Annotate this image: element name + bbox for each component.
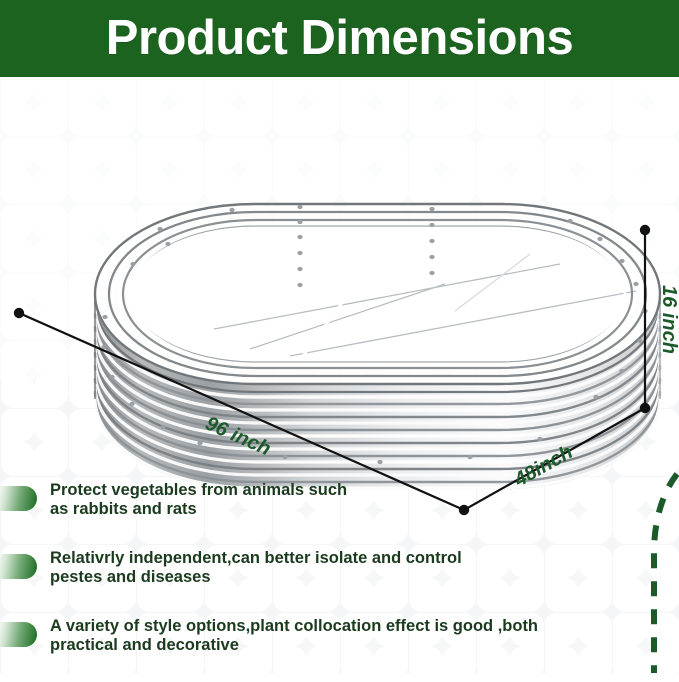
feature-text: Relativrly independent,can better isolat… [50,546,462,587]
feature-text: Protect vegetables from animals such as … [50,478,347,519]
header-banner: Product Dimensions [0,0,679,79]
feature-item-style: A variety of style options,plant colloca… [0,614,640,682]
feature-item-protect: Protect vegetables from animals such as … [0,478,640,546]
bed-geometry [95,204,660,489]
bullet-pill-icon [0,554,37,579]
feature-text: A variety of style options,plant colloca… [50,614,538,655]
feature-list: Protect vegetables from animals such as … [0,478,640,682]
bed-top-rim [95,204,660,384]
product-illustration-raised-garden-bed [0,79,679,539]
feature-item-independent: Relativrly independent,can better isolat… [0,546,640,614]
page-title: Product Dimensions [106,14,573,63]
bullet-pill-icon [0,486,37,511]
bullet-pill-icon [0,622,37,647]
